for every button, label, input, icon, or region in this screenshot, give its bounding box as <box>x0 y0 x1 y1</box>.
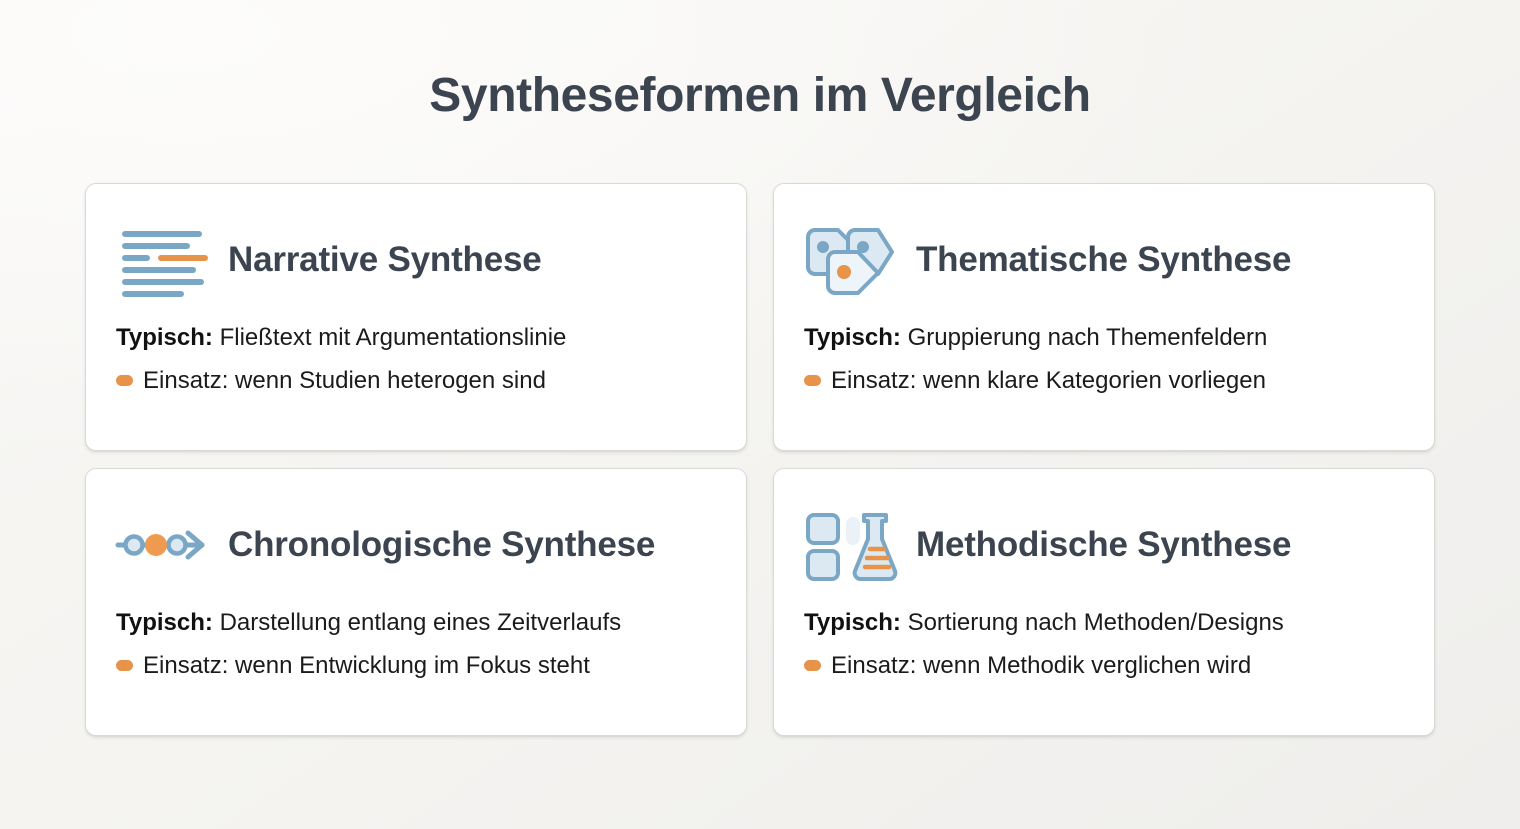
typisch-label: Typisch: <box>804 609 901 636</box>
card-narrative-synthese[interactable]: Narrative Synthese Typisch: Fließtext mi… <box>85 183 747 451</box>
typisch-value: Gruppierung nach Themenfeldern <box>908 324 1268 351</box>
orange-pill-bullet-icon <box>804 375 821 386</box>
typisch-row: Typisch: Fließtext mit Argumentationslin… <box>116 322 716 353</box>
card-body: Typisch: Fließtext mit Argumentationslin… <box>116 308 716 396</box>
typisch-row: Typisch: Darstellung entlang eines Zeitv… <box>116 607 716 638</box>
card-header: Methodische Synthese <box>804 497 1404 593</box>
card-chronologische-synthese[interactable]: Chronologische Synthese Typisch: Darstel… <box>85 468 747 736</box>
typisch-row: Typisch: Sortierung nach Methoden/Design… <box>804 607 1404 638</box>
timeline-arrow-icon <box>116 512 208 578</box>
typisch-value: Fließtext mit Argumentationslinie <box>220 324 567 351</box>
typisch-row: Typisch: Gruppierung nach Themenfeldern <box>804 322 1404 353</box>
typisch-label: Typisch: <box>116 324 213 351</box>
card-header: Thematische Synthese <box>804 212 1404 308</box>
einsatz-value: Einsatz: wenn Entwicklung im Fokus steht <box>143 650 590 681</box>
typisch-value: Sortierung nach Methoden/Designs <box>908 609 1284 636</box>
page-title: Syntheseformen im Vergleich <box>0 68 1520 123</box>
card-title: Narrative Synthese <box>228 240 542 280</box>
card-title: Thematische Synthese <box>916 240 1291 280</box>
synthesis-card-grid: Narrative Synthese Typisch: Fließtext mi… <box>85 183 1435 736</box>
slide-root: Syntheseformen im Vergleich <box>0 0 1520 829</box>
einsatz-row: Einsatz: wenn Studien heterogen sind <box>116 365 716 396</box>
text-lines-icon <box>116 223 208 297</box>
einsatz-row: Einsatz: wenn Entwicklung im Fokus steht <box>116 650 716 681</box>
einsatz-row: Einsatz: wenn Methodik verglichen wird <box>804 650 1404 681</box>
einsatz-value: Einsatz: wenn klare Kategorien vorliegen <box>831 365 1266 396</box>
orange-pill-bullet-icon <box>116 375 133 386</box>
card-title: Chronologische Synthese <box>228 525 655 565</box>
einsatz-value: Einsatz: wenn Methodik verglichen wird <box>831 650 1251 681</box>
typisch-label: Typisch: <box>804 324 901 351</box>
card-body: Typisch: Sortierung nach Methoden/Design… <box>804 593 1404 681</box>
card-header: Chronologische Synthese <box>116 497 716 593</box>
card-title: Methodische Synthese <box>916 525 1291 565</box>
card-body: Typisch: Darstellung entlang eines Zeitv… <box>116 593 716 681</box>
card-methodische-synthese[interactable]: Methodische Synthese Typisch: Sortierung… <box>773 468 1435 736</box>
orange-pill-bullet-icon <box>116 660 133 671</box>
typisch-label: Typisch: <box>116 609 213 636</box>
orange-pill-bullet-icon <box>804 660 821 671</box>
typisch-value: Darstellung entlang eines Zeitverlaufs <box>220 609 622 636</box>
tags-icon <box>804 223 896 297</box>
einsatz-row: Einsatz: wenn klare Kategorien vorliegen <box>804 365 1404 396</box>
card-thematische-synthese[interactable]: Thematische Synthese Typisch: Gruppierun… <box>773 183 1435 451</box>
einsatz-value: Einsatz: wenn Studien heterogen sind <box>143 365 546 396</box>
flask-icon <box>804 512 896 578</box>
card-body: Typisch: Gruppierung nach Themenfeldern … <box>804 308 1404 396</box>
card-header: Narrative Synthese <box>116 212 716 308</box>
